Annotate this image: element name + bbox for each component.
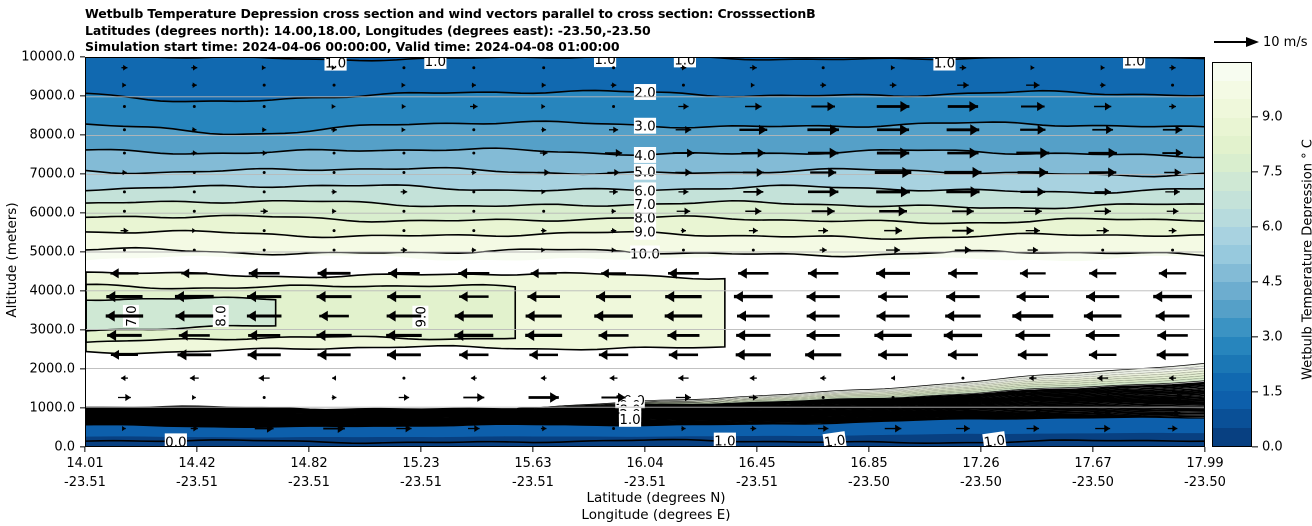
y-axis-tick-label: 8000.0 [0, 128, 75, 143]
wind-vector [1156, 310, 1190, 321]
wind-vector [807, 291, 840, 302]
wind-vector [463, 393, 484, 402]
arrow-right-icon [1213, 33, 1261, 51]
wind-vector [123, 152, 126, 155]
wind-vector [121, 375, 128, 381]
svg-text:9.0: 9.0 [634, 226, 655, 241]
x-axis-tick-mark [980, 447, 981, 452]
x-axis-tick-mark [756, 447, 757, 452]
wind-vector [750, 375, 757, 381]
wind-vector [822, 66, 825, 69]
wind-vector [808, 268, 838, 279]
contour-label: 1.0 [1123, 58, 1145, 70]
wind-vector [1089, 350, 1117, 360]
contour-label: 5.0 [634, 164, 656, 181]
colorbar-segment [1213, 136, 1251, 154]
colorbar-tick-mark [1252, 116, 1258, 117]
wind-vector [612, 105, 615, 108]
wind-vector [263, 171, 266, 174]
colorbar-tick-label: 9.0 [1262, 110, 1283, 125]
y-axis-tick-mark [80, 251, 85, 252]
wind-vector [333, 249, 336, 252]
wind-vector [193, 171, 196, 174]
wind-key-label: 10 m/s [1263, 35, 1308, 50]
svg-text:1.0: 1.0 [934, 58, 955, 72]
wind-vector [459, 350, 488, 360]
plot-area: 2.03.04.05.06.07.08.09.010.01.01.01.01.0… [85, 57, 1205, 447]
wind-vector [472, 229, 475, 232]
svg-text:5.0: 5.0 [634, 166, 655, 181]
wind-vector [263, 105, 266, 108]
y-axis-tick-mark [80, 56, 85, 57]
title-line-2: Latitudes (degrees north): 14.00,18.00, … [85, 23, 1205, 40]
colorbar-segment [1213, 264, 1251, 282]
colorbar-tick-label: 0.0 [1262, 440, 1283, 455]
contour-label: 1.0 [714, 433, 736, 446]
svg-text:1.0: 1.0 [619, 413, 640, 428]
wind-vector [1101, 249, 1104, 252]
wind-vector [612, 66, 615, 69]
wind-vector [402, 171, 405, 174]
y-axis-tick-label: 5000.0 [0, 245, 75, 260]
wind-vector [123, 249, 126, 252]
wind-vector [190, 375, 199, 381]
y-axis-tick-mark [80, 290, 85, 291]
x-axis-tick-mark [308, 447, 309, 452]
contour-label: 1.0 [619, 411, 641, 428]
wind-vector [193, 249, 196, 252]
wind-vector [402, 66, 405, 69]
y-axis-tick-mark [80, 407, 85, 408]
wind-vector [891, 375, 895, 380]
wind-vector [682, 412, 685, 415]
wind-vector [752, 249, 755, 252]
wind-vector [193, 412, 196, 415]
colorbar-tick-mark [1252, 446, 1258, 447]
wind-vector-key: 10 m/s [1213, 33, 1312, 55]
x-axis-label-latitude: Latitude (degrees N) [0, 490, 1312, 506]
wind-vector [399, 394, 409, 401]
wind-vector [192, 395, 196, 400]
wind-vector [123, 105, 126, 108]
wind-vector [472, 210, 475, 213]
wind-vector [1020, 268, 1046, 278]
wind-vector [193, 190, 196, 193]
wind-vector [1086, 330, 1120, 341]
colorbar-segment [1213, 227, 1251, 245]
contour-label: 1.0 [324, 58, 346, 72]
svg-text:1.0: 1.0 [325, 58, 346, 72]
colorbar-segment [1213, 391, 1251, 409]
wind-vector [317, 349, 350, 360]
colorbar-tick-label: 7.5 [1262, 165, 1283, 180]
svg-text:1.0: 1.0 [425, 58, 446, 70]
svg-text:1.0: 1.0 [823, 433, 846, 446]
svg-text:8.0: 8.0 [215, 305, 230, 326]
svg-text:2.0: 2.0 [634, 86, 655, 101]
colorbar-segment [1213, 282, 1251, 300]
wind-vector [820, 375, 826, 381]
wind-vector [193, 210, 196, 213]
wind-vector [669, 350, 698, 360]
y-axis-tick-label: 3000.0 [0, 323, 75, 338]
colorbar-segment [1213, 191, 1251, 209]
x-axis-tick-mark [532, 447, 533, 452]
wind-vector [734, 291, 773, 302]
x-axis-label-longitude: Longitude (degrees E) [0, 507, 1312, 523]
wind-vector [1084, 310, 1122, 321]
wind-vector [541, 375, 547, 381]
colorbar-segment [1213, 118, 1251, 136]
wind-vector [332, 375, 336, 380]
wind-vector [123, 128, 126, 131]
wind-vector [333, 171, 336, 174]
colorbar-tick-label: 6.0 [1262, 220, 1283, 235]
wind-vector [892, 396, 895, 399]
wind-vector [874, 330, 911, 341]
wind-vector [123, 190, 126, 193]
wind-vector [263, 249, 266, 252]
svg-text:4.0: 4.0 [634, 149, 655, 164]
y-axis-tick-mark [80, 173, 85, 174]
wind-vector [263, 396, 266, 399]
wind-vector [752, 412, 755, 415]
colorbar-tick-mark [1252, 226, 1258, 227]
colorbar-segment [1213, 355, 1251, 373]
svg-text:3.0: 3.0 [634, 120, 655, 135]
x-tick-longitude: -23.50 [1135, 473, 1275, 492]
wind-vector [123, 412, 126, 415]
wind-vector [263, 229, 266, 232]
colorbar-segment [1213, 373, 1251, 391]
wind-vector [807, 310, 840, 321]
figure-title: Wetbulb Temperature Depression cross sec… [85, 6, 1205, 56]
wind-vector [948, 350, 978, 361]
x-axis-tick-mark [1204, 447, 1205, 452]
contour-label: 3.0 [634, 118, 656, 135]
wind-vector [402, 377, 405, 380]
wind-vector [472, 66, 475, 69]
wind-vector [599, 350, 628, 360]
wind-vector [1086, 291, 1119, 302]
y-axis-tick-label: 10000.0 [0, 50, 75, 65]
x-axis-tick-mark [1092, 447, 1093, 452]
x-axis-tick-mark [868, 447, 869, 452]
wind-vector [529, 392, 559, 403]
y-axis-tick-mark [80, 212, 85, 213]
wind-vector [1089, 268, 1116, 278]
wind-vector [333, 84, 336, 87]
wind-vector [878, 350, 908, 361]
wind-vector [877, 310, 910, 321]
svg-text:10.0: 10.0 [630, 247, 660, 262]
y-axis-tick-label: 7000.0 [0, 167, 75, 182]
colorbar-tick-mark [1252, 281, 1258, 282]
wind-vector [876, 268, 910, 279]
y-axis-tick-label: 0.0 [0, 440, 75, 455]
contour-label: 0.0 [165, 433, 187, 446]
colorbar-segment [1213, 154, 1251, 172]
svg-text:1.0: 1.0 [983, 433, 1006, 446]
colorbar-tick-label: 1.5 [1262, 385, 1283, 400]
colorbar-segment [1213, 245, 1251, 263]
colorbar-segment [1213, 428, 1251, 446]
wind-vector [333, 152, 336, 155]
title-line-1: Wetbulb Temperature Depression cross sec… [85, 6, 1205, 23]
wind-vector [248, 349, 281, 360]
title-line-3: Simulation start time: 2024-04-06 00:00:… [85, 39, 1205, 56]
colorbar-segment [1213, 318, 1251, 336]
wind-vector [610, 375, 618, 381]
wind-vector [736, 330, 770, 341]
colorbar-tick-mark [1252, 336, 1258, 337]
wind-vector [612, 427, 615, 430]
svg-text:0.0: 0.0 [165, 435, 186, 446]
wind-vector [402, 152, 405, 155]
wind-vector [878, 291, 908, 302]
wind-vector [259, 375, 270, 382]
figure: Wetbulb Temperature Depression cross sec… [0, 0, 1312, 526]
wind-vector [529, 350, 558, 360]
colorbar-segment [1213, 172, 1251, 190]
colorbar-tick-label: 3.0 [1262, 330, 1283, 345]
wind-vector [682, 84, 685, 87]
x-axis-tick-mark [84, 447, 85, 452]
wind-vector [822, 396, 825, 399]
cross-section-render: 2.03.04.05.06.07.08.09.010.01.01.01.01.0… [86, 58, 1204, 446]
wind-vector [542, 66, 545, 69]
contour-label: 9.0 [634, 224, 656, 241]
wind-vector [1171, 249, 1174, 252]
wind-vector [1012, 310, 1053, 321]
wind-vector [807, 330, 840, 341]
svg-text:1.0: 1.0 [714, 435, 735, 446]
wind-vector [1153, 291, 1192, 302]
wind-vector [123, 210, 126, 213]
colorbar-tick-mark [1252, 391, 1258, 392]
colorbar-segment [1213, 300, 1251, 318]
wind-vector [682, 249, 685, 252]
wind-vector [333, 229, 336, 232]
y-axis-tick-label: 9000.0 [0, 89, 75, 104]
wind-vector [944, 330, 982, 341]
wind-vector [263, 84, 266, 87]
y-axis-tick-mark [80, 134, 85, 135]
x-axis-tick-label: 17.99-23.50 [1135, 454, 1275, 492]
y-axis-tick-mark [80, 95, 85, 96]
y-axis-tick-label: 6000.0 [0, 206, 75, 221]
y-axis-tick-label: 4000.0 [0, 284, 75, 299]
colorbar-segment [1213, 81, 1251, 99]
x-axis-tick-mark [420, 447, 421, 452]
wind-vector [1157, 349, 1189, 360]
wind-vector [1015, 330, 1050, 341]
wind-vector [948, 268, 978, 278]
wind-vector [472, 190, 475, 193]
contour-label: 1.0 [933, 58, 955, 72]
wind-vector [472, 152, 475, 155]
x-tick-latitude: 17.99 [1135, 454, 1275, 473]
y-axis-tick-mark [80, 368, 85, 369]
wind-vector [678, 375, 688, 382]
wind-vector [946, 291, 980, 302]
wind-vector [1159, 268, 1186, 278]
contour-label: 4.0 [634, 147, 656, 164]
colorbar-segment [1213, 63, 1251, 81]
wind-vector [402, 229, 405, 232]
wind-vector [332, 395, 337, 401]
wind-vector [805, 349, 841, 360]
colorbar-segment [1213, 99, 1251, 117]
colorbar-segment [1213, 337, 1251, 355]
wind-vector [738, 268, 768, 279]
wind-vector [193, 105, 196, 108]
contour-label: 2.0 [634, 84, 656, 101]
x-axis-tick-mark [644, 447, 645, 452]
contour-label: 10.0 [630, 245, 660, 262]
wind-vector [736, 349, 771, 360]
wind-vector [961, 377, 964, 380]
wind-vector [472, 128, 475, 131]
y-axis-tick-mark [80, 329, 85, 330]
wind-vector [1171, 84, 1174, 87]
wind-vector [471, 375, 477, 381]
y-axis-tick-label: 2000.0 [0, 362, 75, 377]
wind-vector [402, 210, 405, 213]
wind-vector [737, 310, 770, 321]
contour-label: 8.0 [213, 305, 230, 327]
colorbar-tick-mark [1252, 171, 1258, 172]
wind-vector [1017, 291, 1049, 302]
wind-vector [118, 394, 131, 401]
wind-vector [263, 190, 266, 193]
colorbar-segment [1213, 409, 1251, 427]
wind-vector [387, 349, 421, 360]
x-axis-tick-mark [196, 447, 197, 452]
wind-vector [945, 310, 981, 321]
wind-vector [542, 210, 545, 213]
colorbar [1212, 62, 1252, 447]
contour-label: 1.0 [424, 58, 446, 70]
colorbar-tick-label: 4.5 [1262, 275, 1283, 290]
colorbar-label: Wetbulb Temperature Depression ° C [1301, 60, 1312, 460]
colorbar-segment [1213, 209, 1251, 227]
wind-vector [1018, 350, 1048, 361]
svg-text:1.0: 1.0 [1123, 58, 1144, 70]
y-axis-tick-label: 1000.0 [0, 401, 75, 416]
wind-vector [1157, 330, 1187, 341]
